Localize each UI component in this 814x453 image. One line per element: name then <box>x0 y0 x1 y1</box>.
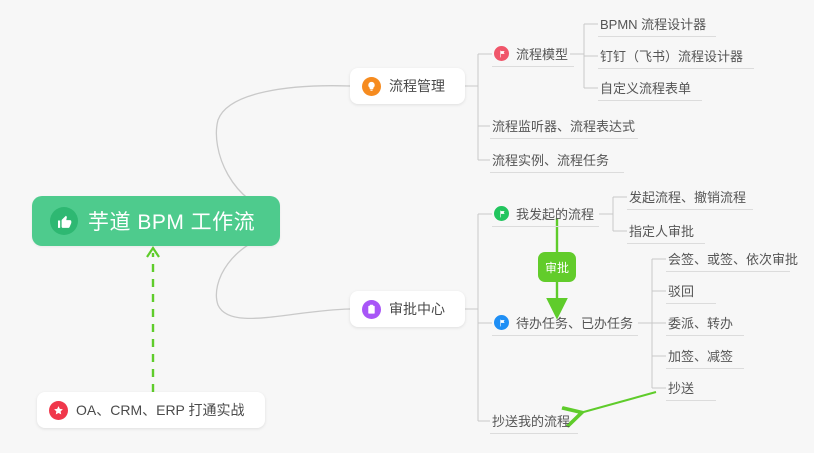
branch-node-approval-center[interactable]: 审批中心 <box>350 291 465 327</box>
topic-label-add-remove-sign: 加签、减签 <box>668 346 733 365</box>
clipboard-icon <box>362 300 381 319</box>
lightbulb-icon <box>362 77 381 96</box>
topic-bpmn-designer[interactable]: BPMN 流程设计器 <box>598 11 716 37</box>
topic-label-designated-approval: 指定人审批 <box>629 221 694 240</box>
topic-add-remove-sign[interactable]: 加签、减签 <box>666 343 744 369</box>
topic-label-start-cancel-flow: 发起流程、撤销流程 <box>629 187 746 206</box>
flag-icon <box>494 206 509 221</box>
branch-label-approval-center: 审批中心 <box>389 299 445 319</box>
flag-icon <box>494 315 509 330</box>
topic-custom-form[interactable]: 自定义流程表单 <box>598 75 702 101</box>
topic-label-delegate-transfer: 委派、转办 <box>668 313 733 332</box>
topic-label-dingtalk-designer: 钉钉（飞书）流程设计器 <box>600 46 743 65</box>
annotation-dashed-arrowhead <box>147 248 159 257</box>
annotation-arrow-cc <box>580 392 656 413</box>
branch-node-process-management[interactable]: 流程管理 <box>350 68 465 104</box>
topic-label-process-listener: 流程监听器、流程表达式 <box>492 116 635 135</box>
root-node[interactable]: 芋道 BPM 工作流 <box>32 196 280 246</box>
root-label: 芋道 BPM 工作流 <box>88 206 255 236</box>
annotation-sticker-approval: 审批 <box>538 252 576 282</box>
annotation-sticker-label: 审批 <box>545 259 569 276</box>
edge-root-to-process <box>216 86 350 213</box>
topic-todo-done-tasks[interactable]: 待办任务、已办任务 <box>492 310 638 336</box>
topic-delegate-transfer[interactable]: 委派、转办 <box>666 310 744 336</box>
topic-label-carbon-copy: 抄送 <box>668 378 694 397</box>
topic-label-my-started-flows: 我发起的流程 <box>516 204 594 223</box>
topic-label-cc-my-flows: 抄送我的流程 <box>492 411 570 430</box>
topic-carbon-copy[interactable]: 抄送 <box>666 375 716 401</box>
star-icon <box>49 401 68 420</box>
mindmap-canvas: 芋道 BPM 工作流 流程管理 审批中心 流程模型 流程监听 <box>0 0 814 453</box>
topic-label-reject: 驳回 <box>668 281 694 300</box>
thumbs-up-icon <box>50 207 78 235</box>
topic-label-todo-done-tasks: 待办任务、已办任务 <box>516 313 633 332</box>
topic-countersign[interactable]: 会签、或签、依次审批 <box>666 246 790 272</box>
topic-label-bpmn-designer: BPMN 流程设计器 <box>600 14 706 33</box>
topic-my-started-flows[interactable]: 我发起的流程 <box>492 201 599 227</box>
topic-label-process-instance: 流程实例、流程任务 <box>492 150 609 169</box>
topic-designated-approval[interactable]: 指定人审批 <box>627 218 705 244</box>
topic-start-cancel-flow[interactable]: 发起流程、撤销流程 <box>627 184 753 210</box>
topic-cc-my-flows[interactable]: 抄送我的流程 <box>490 408 578 434</box>
topic-process-model[interactable]: 流程模型 <box>492 41 574 67</box>
topic-label-custom-form: 自定义流程表单 <box>600 78 691 97</box>
callout-node-integration[interactable]: OA、CRM、ERP 打通实战 <box>37 392 265 428</box>
topic-label-process-model: 流程模型 <box>516 44 568 63</box>
flag-icon <box>494 46 509 61</box>
topic-dingtalk-designer[interactable]: 钉钉（飞书）流程设计器 <box>598 43 754 69</box>
topic-process-instance[interactable]: 流程实例、流程任务 <box>490 147 624 173</box>
topic-process-listener[interactable]: 流程监听器、流程表达式 <box>490 113 638 139</box>
callout-label-integration: OA、CRM、ERP 打通实战 <box>76 400 245 420</box>
topic-reject[interactable]: 驳回 <box>666 278 716 304</box>
branch-label-process-management: 流程管理 <box>389 76 445 96</box>
topic-label-countersign: 会签、或签、依次审批 <box>668 249 798 268</box>
